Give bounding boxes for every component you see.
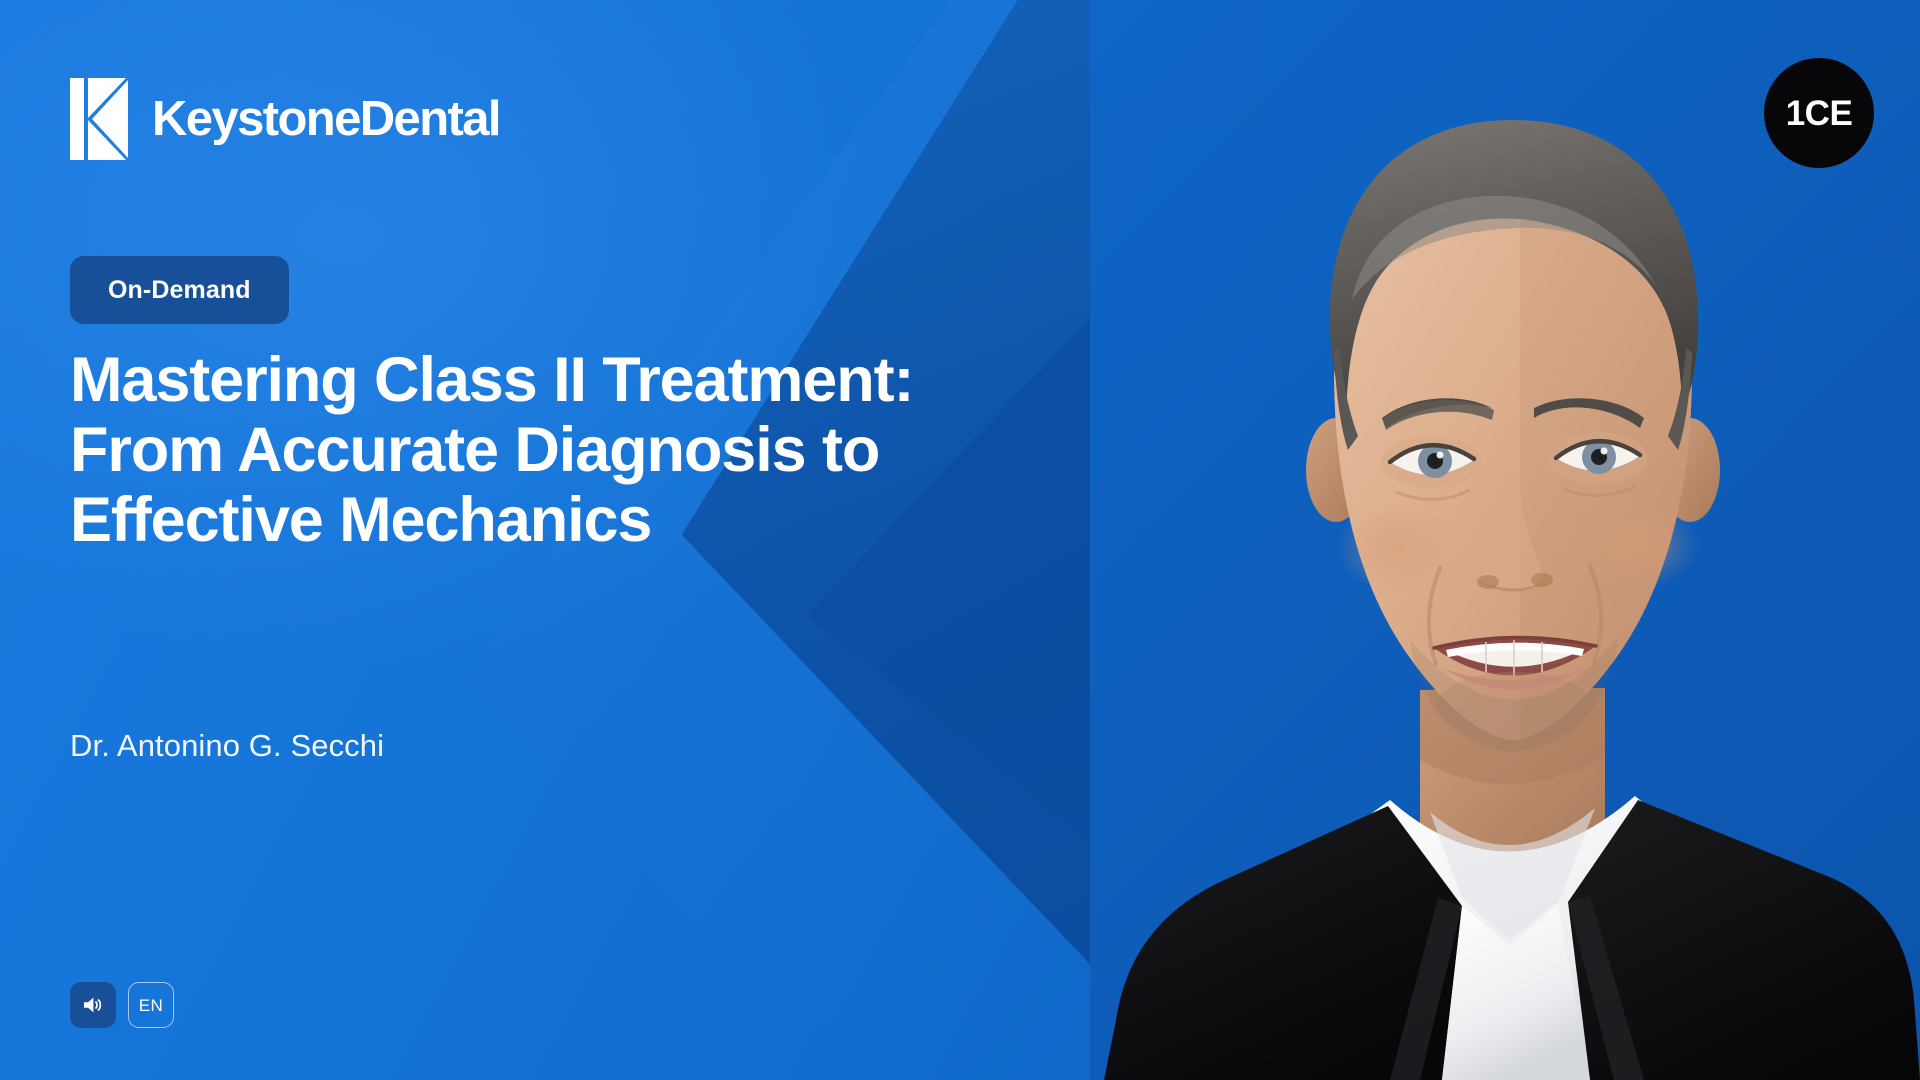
media-controls: EN: [70, 982, 174, 1028]
format-badge: On-Demand: [70, 256, 289, 324]
speaker-volume-icon: [81, 993, 105, 1017]
brand-wordmark: KeystoneDental: [152, 95, 500, 144]
keystone-k-mark-icon: [70, 78, 130, 160]
format-badge-label: On-Demand: [108, 278, 251, 303]
language-selector-button[interactable]: EN: [128, 982, 174, 1028]
ce-credit-label: 1CE: [1786, 96, 1853, 131]
language-code-label: EN: [139, 997, 163, 1014]
webinar-promo-card: 1CE KeystoneDental On-Demand Mastering C…: [0, 0, 1920, 1080]
content-column: KeystoneDental On-Demand Mastering Class…: [70, 0, 1010, 1080]
speaker-name: Dr. Antonino G. Secchi: [70, 730, 384, 761]
brand-logo[interactable]: KeystoneDental: [70, 78, 500, 160]
session-title: Mastering Class II Treatment: From Accur…: [70, 345, 970, 556]
audio-toggle-button[interactable]: [70, 982, 116, 1028]
ce-credit-badge: 1CE: [1764, 58, 1874, 168]
